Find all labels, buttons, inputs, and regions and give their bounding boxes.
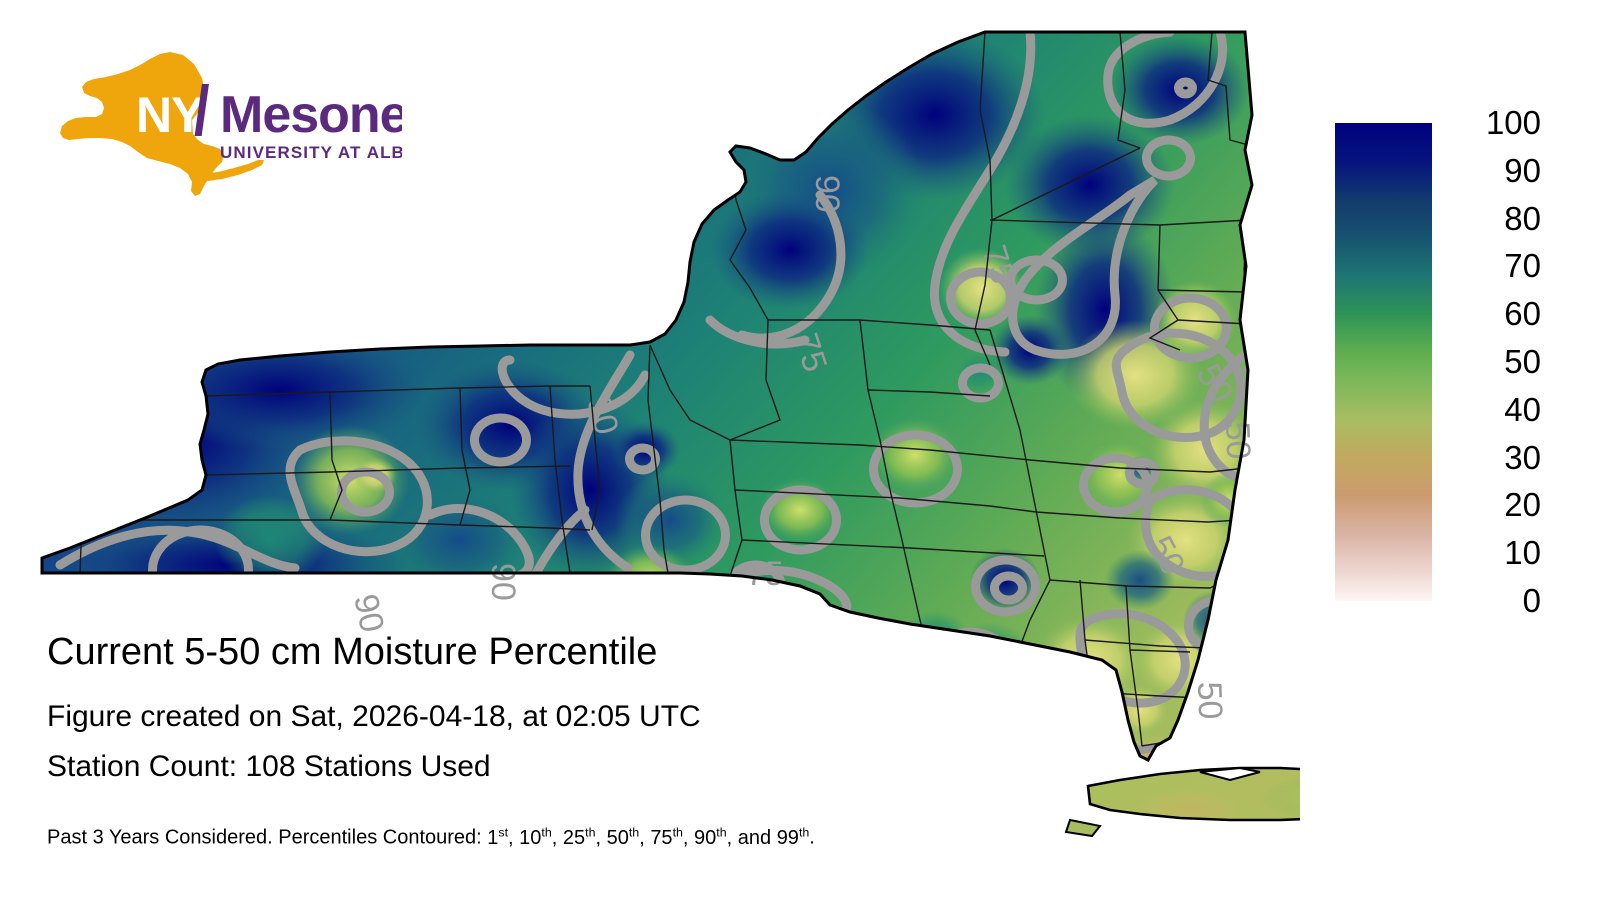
contour-label-50: 50 [1218, 421, 1257, 460]
footnote-percentile-1: 1st, [487, 827, 519, 849]
colorbar-tick-100: 100 [1435, 106, 1541, 139]
colorbar-tick-70: 70 [1435, 249, 1541, 282]
colorbar-tick-80: 80 [1435, 202, 1541, 235]
footnote-percentile-10: 10th, [519, 827, 563, 849]
contour-label-90: 90 [484, 563, 522, 601]
colorbar-tick-10: 10 [1435, 536, 1541, 569]
page-title: Current 5-50 cm Moisture Percentile [47, 633, 657, 671]
footnote-tail: . [809, 827, 815, 849]
contour-label-75: 75 [746, 555, 784, 593]
colorbar-tick-60: 60 [1435, 297, 1541, 330]
footnote-percentile-75: 75th, [650, 827, 694, 849]
colorbar-tick-30: 30 [1435, 441, 1541, 474]
footnote-percentile-90: 90th, [694, 827, 738, 849]
figure-created-timestamp: Figure created on Sat, 2026-04-18, at 02… [47, 702, 701, 732]
contour-label-90: 90 [346, 591, 391, 636]
colorbar-tick-labels: 1009080706050403020100 [1435, 123, 1565, 601]
contour-label-50: 50 [1190, 681, 1229, 720]
colorbar-tick-40: 40 [1435, 393, 1541, 426]
colorbar-group: 1009080706050403020100 [1335, 123, 1565, 603]
footnote-percentile-50: 50th, [607, 827, 651, 849]
footnote-lead: Past 3 Years Considered. Percentiles Con… [47, 827, 487, 849]
moisture-percentile-colorbar [1335, 123, 1432, 601]
colorbar-tick-20: 20 [1435, 488, 1541, 521]
contour-label-90: 90 [808, 175, 846, 213]
footnote-percentile-99: and 99th [738, 827, 810, 849]
contour-footnote: Past 3 Years Considered. Percentiles Con… [47, 826, 815, 848]
colorbar-tick-90: 90 [1435, 154, 1541, 187]
staten-island-shape [1066, 820, 1100, 836]
colorbar-tick-0: 0 [1435, 584, 1541, 617]
colorbar-tick-50: 50 [1435, 345, 1541, 378]
station-count-label: Station Count: 108 Stations Used [47, 752, 491, 782]
footnote-percentile-25: 25th, [563, 827, 607, 849]
